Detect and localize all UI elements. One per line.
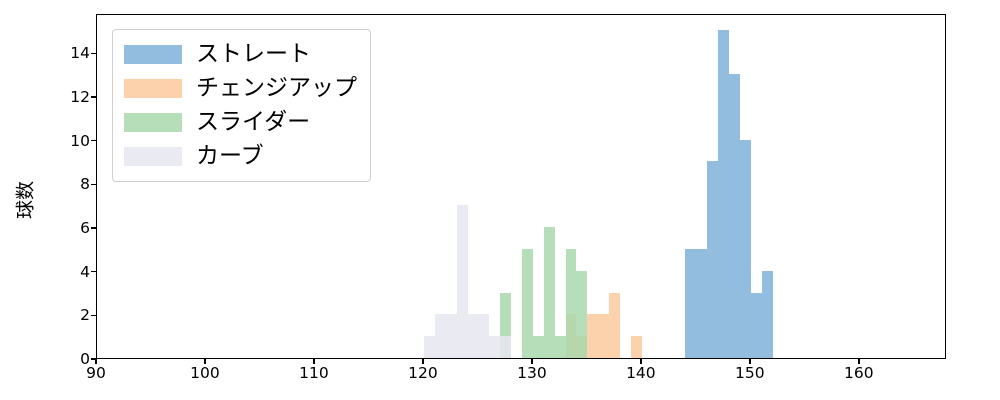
histogram-bar xyxy=(707,161,718,358)
histogram-bar xyxy=(685,249,707,358)
histogram-bar xyxy=(424,336,435,358)
histogram-bar xyxy=(718,30,729,358)
histogram-bar xyxy=(762,271,773,358)
legend-color-swatch xyxy=(124,113,182,132)
x-tick-label: 120 xyxy=(408,364,438,382)
x-tick-mark xyxy=(640,359,641,364)
histogram-bar xyxy=(751,293,762,359)
histogram-bar xyxy=(729,74,740,358)
legend-label: スライダー xyxy=(196,111,310,134)
legend-color-swatch xyxy=(124,45,182,64)
y-tick-label: 14 xyxy=(56,44,90,62)
histogram-bar xyxy=(468,314,490,358)
y-tick-label: 10 xyxy=(56,132,90,150)
histogram-bar xyxy=(566,249,577,358)
y-tick-label: 0 xyxy=(56,350,90,368)
legend-item[interactable]: チェンジアップ xyxy=(124,71,357,105)
histogram-bar xyxy=(435,314,457,358)
x-tick-label: 100 xyxy=(190,364,220,382)
legend-color-swatch xyxy=(124,147,182,166)
y-tick-label: 8 xyxy=(56,175,90,193)
histogram-bar xyxy=(609,293,620,359)
histogram-bar xyxy=(489,336,511,358)
x-tick-label: 90 xyxy=(86,364,106,382)
histogram-bar xyxy=(587,314,609,358)
x-tick-mark xyxy=(749,359,750,364)
histogram-bar xyxy=(555,336,566,358)
histogram-bar xyxy=(544,227,555,358)
legend-label: ストレート xyxy=(196,43,311,66)
x-tick-mark xyxy=(313,359,314,364)
y-tick-label: 6 xyxy=(56,219,90,237)
x-tick-label: 110 xyxy=(299,364,329,382)
histogram-bar xyxy=(631,336,642,358)
histogram-bar xyxy=(740,140,751,358)
histogram-figure: 球数 02468101214 90100110120130140150160 ス… xyxy=(0,0,1000,400)
y-axis-title: 球数 xyxy=(11,181,38,219)
x-tick-mark xyxy=(204,359,205,364)
legend-item[interactable]: スライダー xyxy=(124,105,357,139)
y-tick-label: 4 xyxy=(56,263,90,281)
x-tick-label: 160 xyxy=(844,364,874,382)
histogram-bar xyxy=(522,249,533,358)
x-tick-mark xyxy=(858,359,859,364)
x-tick-label: 150 xyxy=(735,364,765,382)
x-tick-mark xyxy=(531,359,532,364)
y-tick-label: 2 xyxy=(56,306,90,324)
y-tick-label: 12 xyxy=(56,88,90,106)
legend-label: チェンジアップ xyxy=(196,77,357,100)
legend-item[interactable]: カーブ xyxy=(124,139,357,173)
x-tick-mark xyxy=(422,359,423,364)
x-tick-label: 130 xyxy=(517,364,547,382)
legend-label: カーブ xyxy=(196,145,264,168)
histogram-bar xyxy=(576,271,587,358)
x-tick-mark xyxy=(95,359,96,364)
legend: ストレートチェンジアップスライダーカーブ xyxy=(112,29,371,182)
legend-color-swatch xyxy=(124,79,182,98)
histogram-bar xyxy=(533,336,544,358)
histogram-bar xyxy=(457,205,468,358)
x-tick-label: 140 xyxy=(626,364,656,382)
legend-item[interactable]: ストレート xyxy=(124,37,357,71)
